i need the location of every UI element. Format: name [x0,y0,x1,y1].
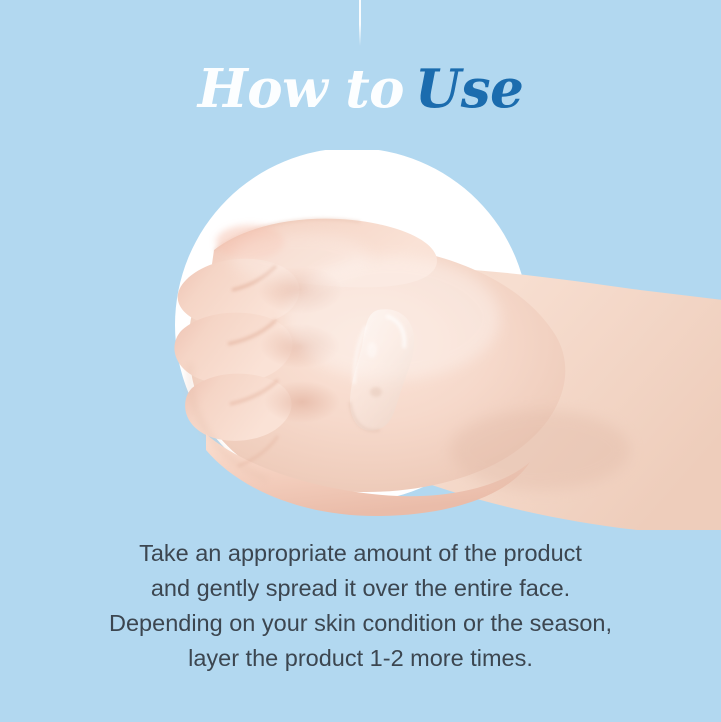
knuckle-shade-3 [264,381,340,423]
instruction-line-3: Depending on your skin condition or the … [0,606,721,641]
page-title: How toUse [0,63,721,116]
instruction-line-1: Take an appropriate amount of the produc… [0,536,721,571]
page-title-part-two: Use [415,58,523,120]
hand-highlight-upper [230,232,370,284]
page-title-part-one: How to [198,58,404,120]
how-to-use-slide: How toUse [0,0,721,722]
hand-photo [0,150,721,530]
hand-illustration [0,150,721,530]
vertical-hairline-divider [359,0,361,46]
instruction-text: Take an appropriate amount of the produc… [0,536,721,676]
wrist-shadow [450,410,630,490]
gel-bubble [370,387,382,397]
gel-bubble-2 [367,342,377,358]
instruction-line-2: and gently spread it over the entire fac… [0,571,721,606]
instruction-line-4: layer the product 1-2 more times. [0,641,721,676]
